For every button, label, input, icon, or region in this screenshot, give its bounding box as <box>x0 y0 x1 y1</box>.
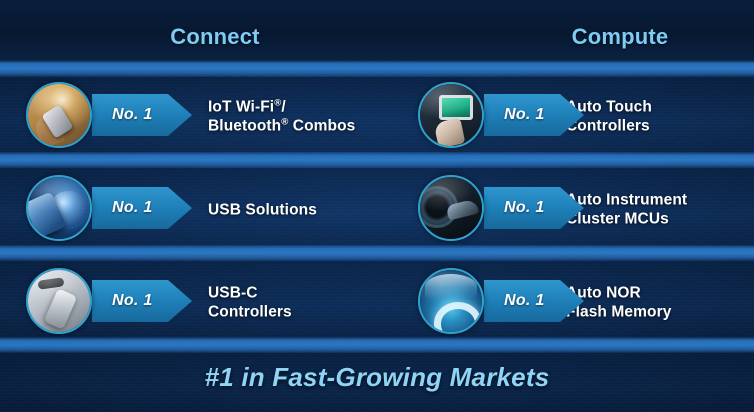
rank-label: No. 1 <box>112 106 153 124</box>
market-row-usb-c-controllers[interactable]: No. 1 USB-C Controllers <box>26 266 386 340</box>
slide-footer-tagline: #1 in Fast-Growing Markets <box>0 362 754 393</box>
separator-band-3 <box>0 245 754 261</box>
column-title-compute: Compute <box>470 24 754 50</box>
rank-chevron-badge: No. 1 <box>92 187 192 229</box>
thumbnail-car-touchscreen-icon <box>418 82 484 148</box>
rank-label: No. 1 <box>504 292 545 310</box>
market-row-auto-instrument-cluster-mcus[interactable]: No. 1 Auto Instrument Cluster MCUs <box>418 173 754 247</box>
rank-chevron-badge: No. 1 <box>92 280 192 322</box>
rank-label: No. 1 <box>112 292 153 310</box>
thumbnail-usb-globe-icon <box>26 175 92 241</box>
market-label: USB Solutions <box>208 200 317 219</box>
slide-root: Connect No. 1 IoT Wi-Fi®/Bluetooth® Comb… <box>0 0 754 412</box>
market-row-auto-touch-controllers[interactable]: No. 1 Auto Touch Controllers <box>418 80 754 154</box>
rank-label: No. 1 <box>504 199 545 217</box>
rank-label: No. 1 <box>504 106 545 124</box>
market-label-part-1: IoT Wi-Fi <box>208 99 274 116</box>
market-row-usb-solutions[interactable]: No. 1 USB Solutions <box>26 173 386 247</box>
market-label-part-3: Combos <box>288 118 355 135</box>
rank-label: No. 1 <box>112 199 153 217</box>
separator-band-2 <box>0 152 754 168</box>
thumbnail-usb-c-cable-icon <box>26 268 92 334</box>
market-label: IoT Wi-Fi®/Bluetooth® Combos <box>208 98 355 137</box>
market-label: Auto Instrument Cluster MCUs <box>566 191 687 230</box>
rank-chevron-badge: No. 1 <box>92 94 192 136</box>
market-label-part-2: Bluetooth <box>208 118 281 135</box>
market-row-iot-wifi-bluetooth[interactable]: No. 1 IoT Wi-Fi®/Bluetooth® Combos <box>26 80 386 154</box>
separator-band-1 <box>0 60 754 77</box>
market-label: USB-C Controllers <box>208 284 292 323</box>
thumbnail-hand-holding-phone-icon <box>26 82 92 148</box>
market-label-separator: / <box>281 99 285 116</box>
column-title-connect: Connect <box>65 24 365 50</box>
thumbnail-instrument-cluster-icon <box>418 175 484 241</box>
market-row-auto-nor-flash-memory[interactable]: No. 1 Auto NOR Flash Memory <box>418 266 754 340</box>
market-label: Auto NOR Flash Memory <box>566 284 671 323</box>
thumbnail-car-cockpit-icon <box>418 268 484 334</box>
